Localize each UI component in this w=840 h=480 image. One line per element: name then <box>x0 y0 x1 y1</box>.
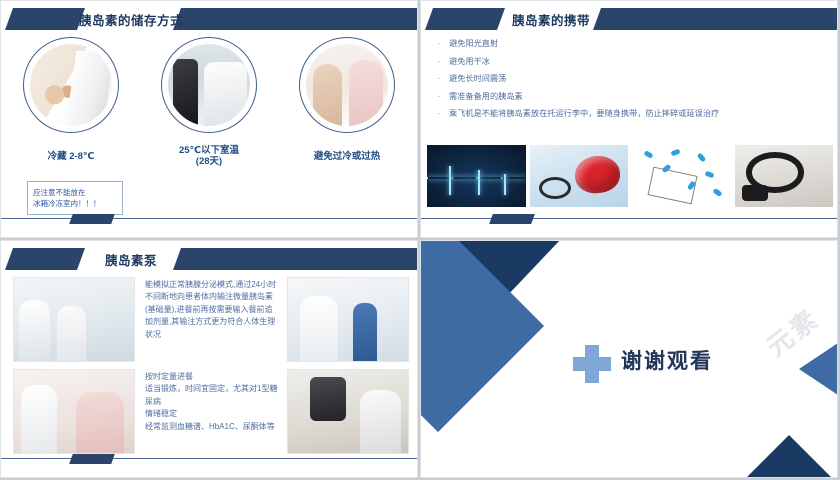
bullet-text: 避免长时间震荡 <box>449 74 506 84</box>
banner-right-shape <box>593 8 838 30</box>
eye-examination-image <box>287 369 409 454</box>
doctor-with-patient-image <box>30 44 112 126</box>
slide-thanks[interactable]: 元素 谢谢观看 <box>420 240 838 478</box>
slide-bottom-decoration <box>421 214 837 224</box>
bullet-text: 需准备备用的胰岛素 <box>449 92 523 102</box>
slide-carrying[interactable]: 胰岛素的携带 · 避免阳光直射 · 避免用干冰 · 避免长时间震荡 · 需准备备… <box>420 0 838 238</box>
nurse-with-elderly-image <box>306 44 388 126</box>
elderly-patient-tablet-image <box>13 369 135 454</box>
pump-content-grid: 能模拟正常胰腺分泌模式,通过24小时不间断地向患者体内输注微量胰岛素(基础量),… <box>13 277 409 447</box>
note-line-2: 冰箱冷冻室内！！！ <box>33 198 117 209</box>
bullet-dot-icon: · <box>435 109 443 119</box>
slide-title-banner: 胰岛素的携带 <box>421 8 837 30</box>
bullet-dot-icon: · <box>435 57 443 67</box>
bullet-dot-icon: · <box>435 39 443 49</box>
pump-guidelines-paragraph: 按时定量进餐 适当锻炼，时间宜固定，尤其对1型糖尿病 情绪稳定 经常监测血糖谱、… <box>145 371 280 433</box>
circle-label-avoid-extremes: 避免过冷或过热 <box>289 151 405 162</box>
banner-right-shape <box>173 248 418 270</box>
medical-cross-icon <box>573 345 611 383</box>
slide-deck: 胰岛素的储存方式 冷藏 2-8℃ 25℃以下室温 (28天) 避免过冷或过热 应… <box>0 0 840 480</box>
bullet-dot-icon: · <box>435 92 443 102</box>
circle-doctor-with-patient <box>23 37 119 133</box>
thanks-title: 谢谢观看 <box>621 345 713 375</box>
stethoscope-chart-image <box>735 145 834 207</box>
slide-bottom-decoration <box>1 454 417 464</box>
bullet-text: 避免用干冰 <box>449 57 490 67</box>
circle-label-room-temp: 25℃以下室温 (28天) <box>151 145 267 167</box>
circle-nurse-with-elderly <box>299 37 395 133</box>
molecule-capsules-image <box>632 145 731 207</box>
circle-image-row <box>1 37 417 137</box>
note-line-1: 应注意不能放在 <box>33 187 117 198</box>
clinic-examination-image <box>168 44 250 126</box>
page-title: 胰岛素的储存方式 <box>85 8 177 30</box>
right-middle-triangle-shape <box>799 341 837 397</box>
list-item: · 避免长时间震荡 <box>435 74 827 84</box>
nurse-portrait-image <box>287 277 409 362</box>
bullet-list: · 避免阳光直射 · 避免用干冰 · 避免长时间震荡 · 需准备备用的胰岛素 ·… <box>435 39 827 127</box>
image-strip <box>427 145 833 207</box>
circle-label-refrigerate: 冷藏 2-8℃ <box>13 151 129 162</box>
bottom-right-triangle-shape <box>727 435 837 477</box>
list-item: · 乘飞机是不能将胰岛素放在托运行李中，要随身携带，防止摔碎或延误治疗 <box>435 109 827 119</box>
slide-title-banner: 胰岛素的储存方式 <box>1 8 417 30</box>
slide-pump[interactable]: 胰岛素泵 能模拟正常胰腺分泌模式,通过24小时不间断地向患者体内输注微量胰岛素(… <box>0 240 418 478</box>
pump-description-paragraph: 能模拟正常胰腺分泌模式,通过24小时不间断地向患者体内输注微量胰岛素(基础量),… <box>145 279 280 341</box>
slide-bottom-decoration <box>1 214 417 224</box>
ecg-monitor-image <box>427 145 526 207</box>
circle-clinic-examination <box>161 37 257 133</box>
banner-left-shape <box>425 8 505 30</box>
banner-left-shape <box>5 8 85 30</box>
red-heart-stethoscope-image <box>530 145 629 207</box>
medical-team-image <box>13 277 135 362</box>
storage-note-box: 应注意不能放在 冰箱冷冻室内！！！ <box>27 181 123 215</box>
banner-left-shape <box>5 248 85 270</box>
slide-title-banner: 胰岛素泵 <box>1 248 417 270</box>
bullet-text: 避免阳光直射 <box>449 39 498 49</box>
list-item: · 需准备备用的胰岛素 <box>435 92 827 102</box>
page-title: 胰岛素的携带 <box>505 8 597 30</box>
list-item: · 避免阳光直射 <box>435 39 827 49</box>
bullet-text: 乘飞机是不能将胰岛素放在托运行李中，要随身携带，防止摔碎或延误治疗 <box>449 109 719 119</box>
list-item: · 避免用干冰 <box>435 57 827 67</box>
page-title: 胰岛素泵 <box>85 248 177 270</box>
banner-right-shape <box>173 8 418 30</box>
slide-storage[interactable]: 胰岛素的储存方式 冷藏 2-8℃ 25℃以下室温 (28天) 避免过冷或过热 应… <box>0 0 418 238</box>
bullet-dot-icon: · <box>435 74 443 84</box>
